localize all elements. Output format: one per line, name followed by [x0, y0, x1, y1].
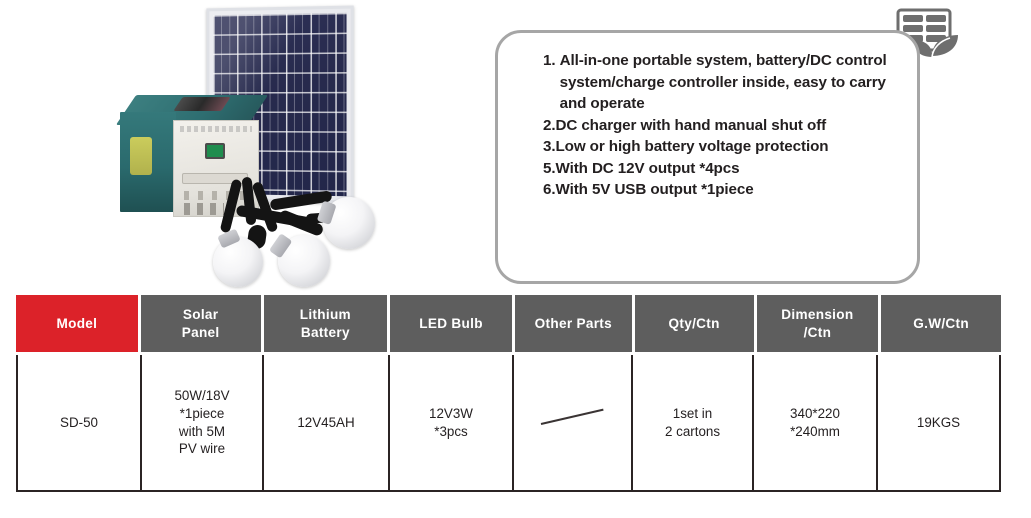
list-item: 6. With 5V USB output *1piece — [543, 179, 903, 201]
cell-solar-panel: 50W/18V*1piecewith 5MPV wire — [142, 355, 264, 490]
list-item: 1. All-in-one portable system, battery/D… — [543, 50, 903, 115]
control-box-ports — [184, 203, 224, 215]
list-item: 5. With DC 12V output *4pcs — [543, 158, 903, 180]
list-item-text: DC charger with hand manual shut off — [555, 115, 903, 137]
list-item-number: 3. — [543, 136, 555, 158]
features-list: 1. All-in-one portable system, battery/D… — [543, 50, 903, 201]
led-bulb — [323, 197, 375, 249]
product-spec-page: 1. All-in-one portable system, battery/D… — [0, 0, 1031, 518]
led-bulb — [213, 237, 263, 287]
cell-led-bulb: 12V3W*3pcs — [390, 355, 514, 490]
cell-model: SD-50 — [18, 355, 142, 490]
cell-lithium-battery: 12V45AH — [264, 355, 390, 490]
list-item: 2. DC charger with hand manual shut off — [543, 115, 903, 137]
table-header-dimension-ctn: Dimension/Ctn — [757, 295, 879, 352]
list-item-text: Low or high battery voltage protection — [555, 136, 903, 158]
control-box-handle — [130, 137, 152, 175]
table-header-qty-ctn: Qty/Ctn — [635, 295, 754, 352]
control-box-top-components — [173, 97, 230, 111]
table-header-other-parts: Other Parts — [515, 295, 632, 352]
list-item-number: 5. — [543, 158, 555, 180]
dash-mark-icon — [541, 411, 605, 435]
table-header-row: Model SolarPanel LithiumBattery LED Bulb… — [16, 295, 1001, 352]
list-item-number: 2. — [543, 115, 555, 137]
cell-dimension-ctn: 340*220*240mm — [754, 355, 878, 490]
table-header-led-bulb: LED Bulb — [390, 295, 512, 352]
list-item: 3. Low or high battery voltage protectio… — [543, 136, 903, 158]
list-item-text: With 5V USB output *1piece — [555, 179, 903, 201]
cell-other-parts — [514, 355, 633, 490]
list-item-number: 1. — [543, 50, 560, 72]
control-box-label — [180, 126, 252, 132]
product-photo — [120, 2, 400, 287]
table-row: SD-50 50W/18V*1piecewith 5MPV wire 12V45… — [16, 355, 1001, 492]
table-header-model: Model — [16, 295, 138, 352]
control-box-display — [205, 143, 225, 159]
table-header-solar-panel: SolarPanel — [141, 295, 261, 352]
table-header-lithium-battery: LithiumBattery — [264, 295, 388, 352]
table-header-gw-ctn: G.W/Ctn — [881, 295, 1001, 352]
list-item-text: With DC 12V output *4pcs — [555, 158, 903, 180]
features-callout: 1. All-in-one portable system, battery/D… — [495, 30, 920, 284]
list-item-text: All-in-one portable system, battery/DC c… — [560, 50, 903, 115]
led-bulb — [278, 235, 330, 287]
cell-qty-ctn: 1set in2 cartons — [633, 355, 754, 490]
cell-gw-ctn: 19KGS — [878, 355, 999, 490]
specification-table: Model SolarPanel LithiumBattery LED Bulb… — [16, 295, 1001, 492]
list-item-number: 6. — [543, 179, 555, 201]
